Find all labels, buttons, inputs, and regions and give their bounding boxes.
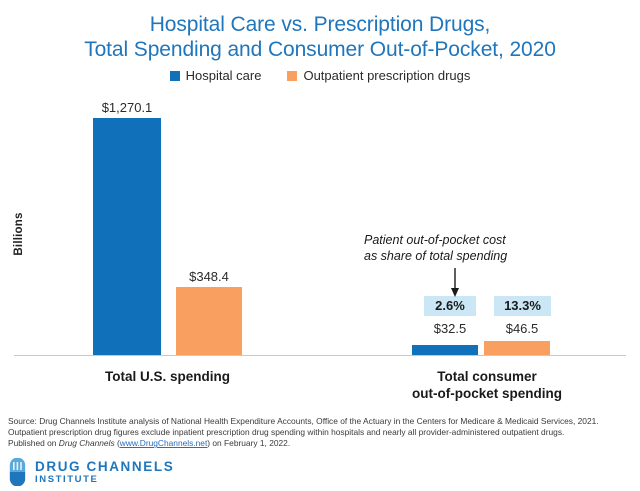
category-label-total-consumer-oop-spending-line-1: Total consumer — [392, 368, 582, 385]
footnote-line-3: Published on Drug Channels (www.DrugChan… — [8, 438, 636, 449]
footnote-website-link[interactable]: www.DrugChannels.net — [120, 438, 208, 448]
footnote-line-3-suffix: ) on February 1, 2022. — [207, 438, 290, 448]
x-axis-line — [14, 355, 626, 356]
bar-group1-drugs — [176, 287, 242, 355]
footnote-line-3-prefix: Published on — [8, 438, 59, 448]
out-of-pocket-annotation: Patient out-of-pocket cost as share of t… — [364, 232, 507, 264]
chart-title-line-1: Hospital Care vs. Prescription Drugs, — [0, 12, 640, 37]
chart-title-line-2: Total Spending and Consumer Out-of-Pocke… — [0, 37, 640, 62]
legend-label-hospital-care: Hospital care — [186, 68, 262, 83]
logo-sub-text: INSTITUTE — [35, 474, 174, 486]
bar-group2-hospital — [412, 345, 478, 355]
legend-label-outpatient-prescription-drugs: Outpatient prescription drugs — [303, 68, 470, 83]
chart-title: Hospital Care vs. Prescription Drugs, To… — [0, 12, 640, 62]
footnote-line-2: Outpatient prescription drug figures exc… — [8, 427, 636, 438]
bar-value-group1-hospital: $1,270.1 — [93, 100, 161, 115]
legend-item-hospital-care: Hospital care — [170, 68, 262, 83]
footnote: Source: Drug Channels Institute analysis… — [8, 416, 636, 449]
legend-swatch-icon-outpatient-prescription-drugs — [287, 71, 297, 81]
bar-value-group2-hospital: $32.5 — [417, 321, 483, 336]
drug-channels-institute-logo: DRUG CHANNELS INSTITUTE — [9, 458, 174, 486]
bar-value-group1-drugs: $348.4 — [176, 269, 242, 284]
category-label-total-consumer-oop-spending: Total consumer out-of-pocket spending — [392, 368, 582, 402]
out-of-pocket-annotation-line-2: as share of total spending — [364, 248, 507, 264]
legend-item-outpatient-prescription-drugs: Outpatient prescription drugs — [287, 68, 470, 83]
capsule-pill-icon — [9, 458, 26, 486]
footnote-line-1: Source: Drug Channels Institute analysis… — [8, 416, 636, 427]
share-badge-drugs: 13.3% — [494, 296, 551, 316]
legend-swatch-icon-hospital-care — [170, 71, 180, 81]
category-label-total-us-spending-line-1: Total U.S. spending — [75, 368, 260, 385]
bar-value-group2-drugs: $46.5 — [489, 321, 555, 336]
y-axis-label: Billions — [13, 199, 25, 269]
logo-text: DRUG CHANNELS INSTITUTE — [35, 459, 174, 486]
chart-legend: Hospital care Outpatient prescription dr… — [0, 68, 640, 83]
bar-group1-hospital — [93, 118, 161, 355]
bar-group2-drugs — [484, 341, 550, 355]
logo-main-text: DRUG CHANNELS — [35, 459, 174, 474]
footnote-line-3-publication: Drug Channels — [59, 438, 115, 448]
category-label-total-consumer-oop-spending-line-2: out-of-pocket spending — [392, 385, 582, 402]
out-of-pocket-annotation-line-1: Patient out-of-pocket cost — [364, 232, 507, 248]
down-arrow-icon — [449, 268, 461, 303]
category-label-total-us-spending: Total U.S. spending — [75, 368, 260, 385]
